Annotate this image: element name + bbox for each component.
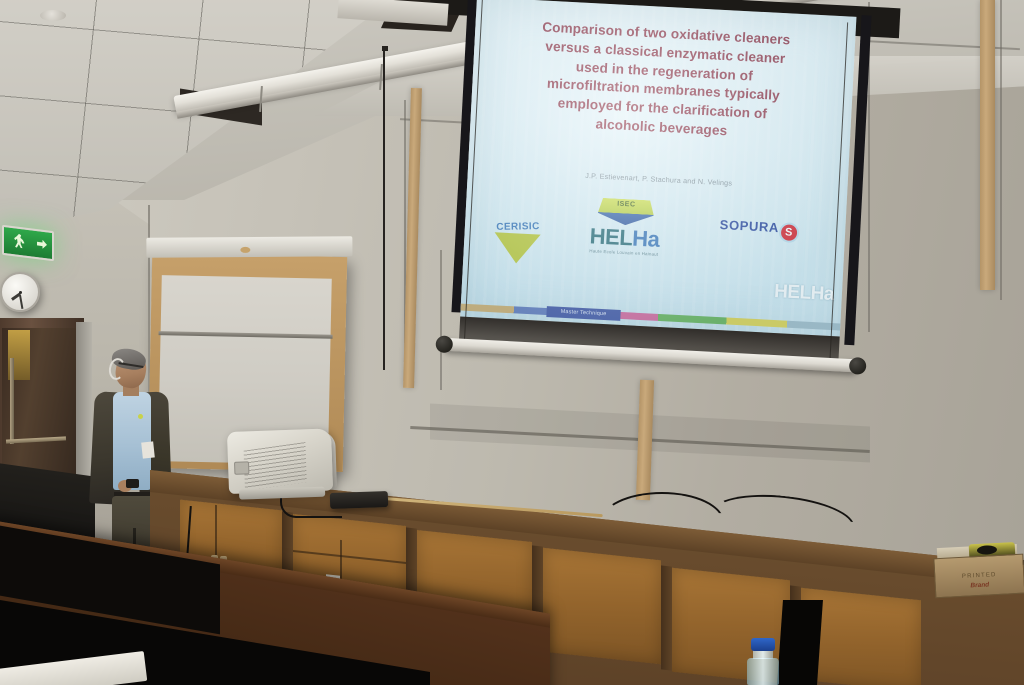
projection-screen: Comparison of two oxidative cleaners ver… — [424, 0, 864, 403]
lapel-pin-icon — [138, 414, 143, 419]
helha-part2: Ha — [632, 225, 660, 251]
keyboard[interactable] — [330, 491, 389, 509]
bottle-body — [747, 658, 779, 685]
slide-title: Comparison of two oxidative cleaners ver… — [476, 15, 851, 147]
helha-watermark: HELHa — [774, 281, 835, 306]
exit-sign — [2, 225, 54, 261]
wall-panel-seam — [1000, 0, 1002, 300]
whiteboard-top-hood — [146, 236, 352, 257]
smoke-detector-icon — [40, 10, 66, 21]
cerisic-triangle-icon — [493, 232, 541, 264]
wall-clock — [0, 272, 40, 312]
wooden-post — [980, 0, 995, 290]
presenter-shirt — [113, 392, 151, 490]
cerisic-logo-text: CERISIC — [483, 221, 553, 233]
cabinet-stile — [661, 565, 672, 670]
whiteboard-knob-icon — [240, 247, 250, 253]
clock-center-icon — [19, 291, 22, 294]
bottle-neck — [753, 650, 773, 659]
monitor-body — [227, 428, 333, 494]
sopura-logo: SOPURAS — [693, 215, 824, 243]
exit-arrow-icon — [37, 239, 47, 249]
helha-part1: HEL — [589, 223, 633, 250]
box-front-face: PRINTED Brand — [933, 554, 1024, 599]
door-push-bar[interactable] — [6, 436, 66, 443]
hanging-cable — [383, 50, 385, 370]
box-label-line2: Brand — [936, 580, 1024, 592]
crt-monitor — [227, 422, 346, 500]
isec-badge-icon — [597, 198, 654, 227]
desk-gap-shadow — [777, 600, 823, 685]
monitor-port-icon — [234, 461, 249, 475]
name-badge — [141, 441, 155, 458]
sopura-s-mark-icon: S — [780, 224, 797, 241]
cabinet-door[interactable] — [543, 548, 661, 664]
slide-surface: Comparison of two oxidative cleaners ver… — [460, 0, 856, 336]
water-bottle — [746, 638, 780, 685]
running-man-icon — [14, 233, 25, 248]
monitor-vents — [244, 442, 307, 491]
door-push-bar-vertical[interactable] — [10, 358, 14, 444]
helha-logo: HELHa Haute Ecole Louvain en Hainaut — [572, 196, 679, 257]
cerisic-logo: CERISIC — [481, 220, 553, 266]
sopura-logo-text: SOPURA — [719, 217, 779, 235]
clock-minute-hand — [19, 295, 23, 309]
lecture-hall-photo: Comparison of two oxidative cleaners ver… — [0, 0, 1024, 685]
presentation-remote[interactable] — [126, 479, 139, 488]
cardboard-box: PRINTED Brand — [933, 544, 1023, 597]
bottle-cap — [751, 638, 775, 651]
